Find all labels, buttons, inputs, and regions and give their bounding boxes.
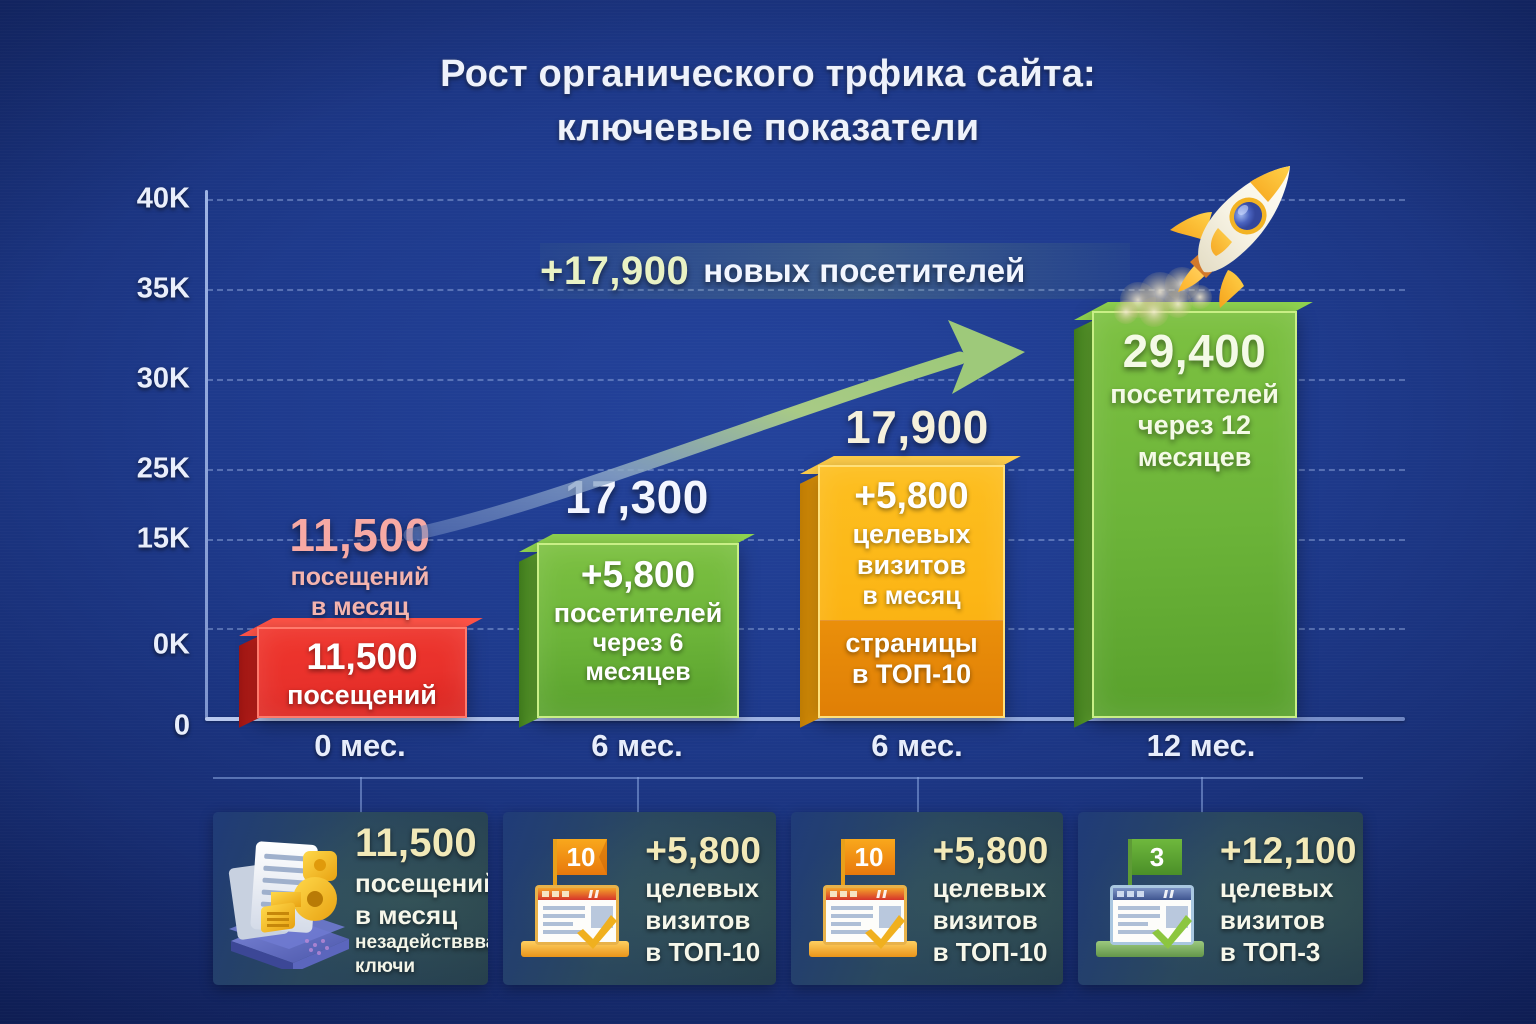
bar-3-inner-caption-2: через 12 xyxy=(1092,410,1297,442)
browser-flag-icon: 3 xyxy=(1088,829,1220,969)
bar-2-inner-caption-3: в месяц xyxy=(824,582,999,611)
annotation-number: +17,900 xyxy=(540,249,689,294)
page-title: Рост органического трфика сайта: ключевы… xyxy=(0,48,1536,156)
card-top10-a-text: +5,800 целевых визитов в ТОП-10 xyxy=(645,828,765,968)
card-top3-line-3: в ТОП-3 xyxy=(1220,937,1357,969)
bar-0-inner-label: 11,500 посещений xyxy=(257,636,467,711)
bar-1-inner-label: +5,800 посетителей через 6 месяцев xyxy=(537,554,739,687)
card-top3-text: +12,100 целевых визитов в ТОП-3 xyxy=(1220,828,1357,968)
card-keys-small-2: ключи xyxy=(355,955,488,978)
title-line-2: ключевые показатели xyxy=(0,102,1536,156)
rocket-icon xyxy=(1108,152,1308,332)
infographic-canvas: Рост органического трфика сайта: ключевы… xyxy=(0,0,1536,1024)
card-top10-a-line-1: целевых xyxy=(645,873,765,905)
x-tick-1: 6 мес. xyxy=(591,728,682,764)
bar-1-side xyxy=(519,552,539,728)
annotation-banner: +17,900 новых посетителей xyxy=(540,243,1130,299)
bar-3-inner-caption-3: месяцев xyxy=(1092,442,1297,474)
connector-drop-2 xyxy=(917,777,919,813)
bar-0: 11,500 посещений xyxy=(257,627,467,718)
card-top3-line-2: визитов xyxy=(1220,905,1357,937)
bar-2-lower-label: страницы в ТОП-10 xyxy=(818,628,1005,691)
bar-3-inner-caption-1: посетителей xyxy=(1092,379,1297,411)
bar-0-side xyxy=(239,636,259,728)
y-tick-40k: 40K xyxy=(137,183,190,216)
y-tick-30k: 30K xyxy=(137,363,190,396)
bar-3: 29,400 посетителей через 12 месяцев xyxy=(1092,311,1297,718)
card-keys-number: 11,500 xyxy=(355,819,488,868)
card-top3[interactable]: 3 xyxy=(1078,812,1363,985)
bar-2-lower-caption-2: в ТОП-10 xyxy=(824,659,999,690)
card-top10-b-line-1: целевых xyxy=(933,873,1053,905)
connector-drop-3 xyxy=(1201,777,1203,813)
card-keys-line-2: в месяц xyxy=(355,900,488,932)
browser-flag-icon: 10 xyxy=(513,829,645,969)
connector-drop-1 xyxy=(637,777,639,813)
svg-text:10: 10 xyxy=(854,842,883,872)
card-top10-a[interactable]: 10 xyxy=(503,812,775,985)
y-tick-25k: 25K xyxy=(137,453,190,486)
card-top10-b-line-2: визитов xyxy=(933,905,1053,937)
svg-text:10: 10 xyxy=(567,842,596,872)
card-keys-text: 11,500 посещений в месяц незадействвванн… xyxy=(355,819,488,978)
annotation-text: новых посетителей xyxy=(703,252,1025,290)
y-axis-line xyxy=(205,190,208,720)
card-top3-number: +12,100 xyxy=(1220,828,1357,873)
card-top10-a-line-3: в ТОП-10 xyxy=(645,937,765,969)
title-line-1: Рост органического трфика сайта: xyxy=(440,53,1096,95)
x-tick-0: 0 мес. xyxy=(314,728,405,764)
card-keys-line-1: посещений xyxy=(355,868,488,900)
card-top10-b-number: +5,800 xyxy=(933,828,1053,873)
bar-1-inner-caption-1: посетителей xyxy=(543,598,733,629)
y-tick-15k: 15K xyxy=(137,523,190,556)
bar-0-caption-2: в месяц xyxy=(289,592,430,622)
connector-drop-0 xyxy=(360,777,362,813)
card-top3-line-1: целевых xyxy=(1220,873,1357,905)
bar-1: +5,800 посетителей через 6 месяцев xyxy=(537,543,739,718)
browser-flag-icon: 10 xyxy=(801,829,933,969)
y-tick-0k: 0K xyxy=(153,629,190,662)
bar-0-inner-caption: посещений xyxy=(263,680,461,711)
bar-0-inner-value: 11,500 xyxy=(263,636,461,679)
card-keys[interactable]: 11,500 посещений в месяц незадействвванн… xyxy=(213,812,488,985)
growth-arrow-icon xyxy=(400,290,1060,550)
y-tick-0: 0 xyxy=(174,710,190,743)
bar-3-side xyxy=(1074,320,1094,728)
card-top10-b-text: +5,800 целевых визитов в ТОП-10 xyxy=(933,828,1053,968)
card-top10-a-number: +5,800 xyxy=(645,828,765,873)
bar-3-inner-label: 29,400 посетителей через 12 месяцев xyxy=(1092,325,1297,474)
bar-1-inner-value: +5,800 xyxy=(543,554,733,597)
bar-0-caption-1: посещений xyxy=(289,562,430,592)
connector-rail xyxy=(213,777,1363,779)
svg-text:3: 3 xyxy=(1150,842,1164,872)
card-top10-b[interactable]: 10 xyxy=(791,812,1063,985)
bar-2-lower-caption-1: страницы xyxy=(824,628,999,659)
x-tick-3: 12 мес. xyxy=(1147,728,1256,764)
bar-2-inner-caption-2: визитов xyxy=(824,550,999,581)
bar-1-inner-caption-2: через 6 месяцев xyxy=(543,629,733,687)
x-tick-2: 6 мес. xyxy=(871,728,962,764)
documents-keys-icon xyxy=(223,829,355,969)
summary-cards: 11,500 посещений в месяц незадействвванн… xyxy=(213,812,1363,985)
card-top10-a-line-2: визитов xyxy=(645,905,765,937)
bar-3-inner-value: 29,400 xyxy=(1092,325,1297,379)
card-keys-small-1: незадействвванные xyxy=(355,931,488,954)
card-top10-b-line-3: в ТОП-10 xyxy=(933,937,1053,969)
y-tick-35k: 35K xyxy=(137,273,190,306)
